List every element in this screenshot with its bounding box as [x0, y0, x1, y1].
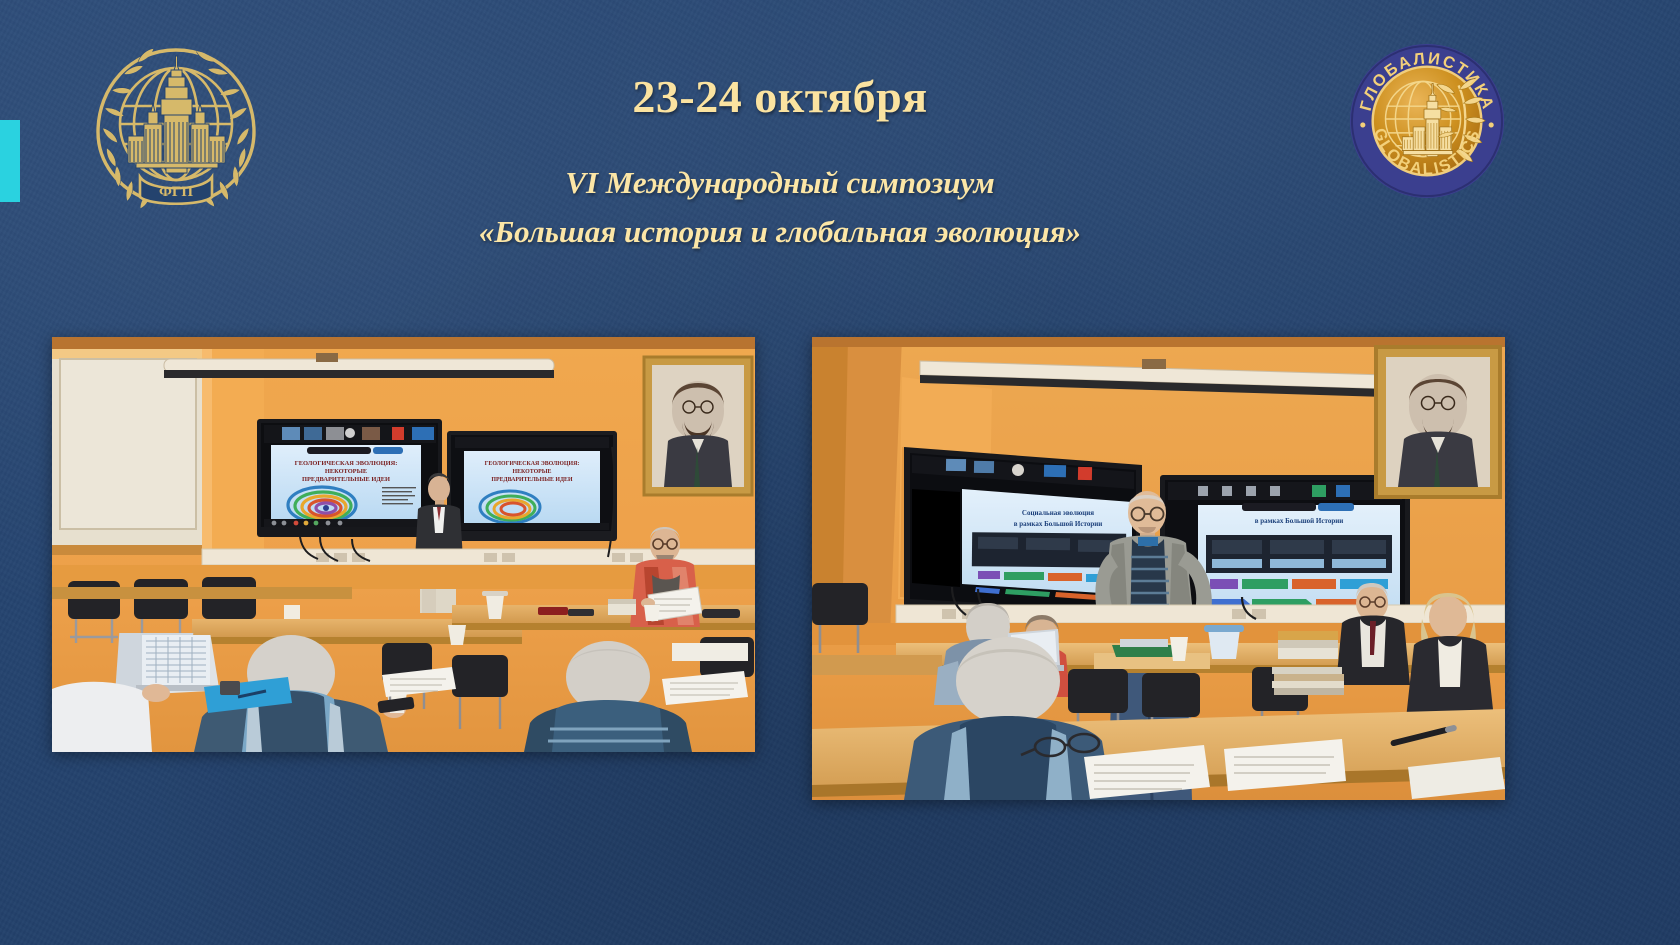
slide2-title-line-2: НЕКОТОРЫЕ: [513, 469, 552, 475]
slide-title-line-1: ГЕОЛОГИЧЕСКАЯ ЭВОЛЮЦИЯ:: [295, 460, 398, 467]
slide-title-line-2: НЕКОТОРЫЕ: [325, 468, 367, 475]
right-slide-title-2: в рамках Большой Истории: [1014, 520, 1103, 528]
right-slide2-title: в рамках Большой Истории: [1255, 517, 1344, 525]
conference-room-photo-right: Социальная эволюция в рамках Большой Ист…: [812, 337, 1505, 800]
fgp-ribbon-text: ФГП: [159, 184, 193, 200]
page-title: 23-24 октября: [340, 70, 1220, 123]
right-slide-title-1: Социальная эволюция: [1022, 509, 1094, 517]
books-stack: [1272, 667, 1344, 695]
slide2-title-line-1: ГЕОЛОГИЧЕСКАЯ ЭВОЛЮЦИЯ:: [485, 461, 580, 467]
slide-title-line-3: ПРЕДВАРИТЕЛЬНЫЕ ИДЕИ: [302, 476, 390, 483]
left-accent-bar: [0, 120, 20, 202]
msu-fgp-logo: ФГП: [78, 36, 274, 212]
wall-portrait-frame: [644, 357, 752, 495]
subtitle-line-1: VI Международный симпозиум: [300, 158, 1260, 207]
globalistics-logo: ГЛОБАЛИСТИКА GLOBALISTICS: [1348, 42, 1506, 200]
subtitle-line-2: «Большая история и глобальная эволюция»: [300, 207, 1260, 256]
wall-portrait-frame-right: [1376, 347, 1500, 497]
symposium-subtitle: VI Международный симпозиум «Большая исто…: [300, 158, 1260, 256]
slide2-title-line-3: ПРЕДВАРИТЕЛЬНЫЕ ИДЕИ: [491, 477, 573, 483]
conference-room-photo-left: ГЕОЛОГИЧЕСКАЯ ЭВОЛЮЦИЯ: НЕКОТОРЫЕ ПРЕДВА…: [52, 337, 755, 752]
